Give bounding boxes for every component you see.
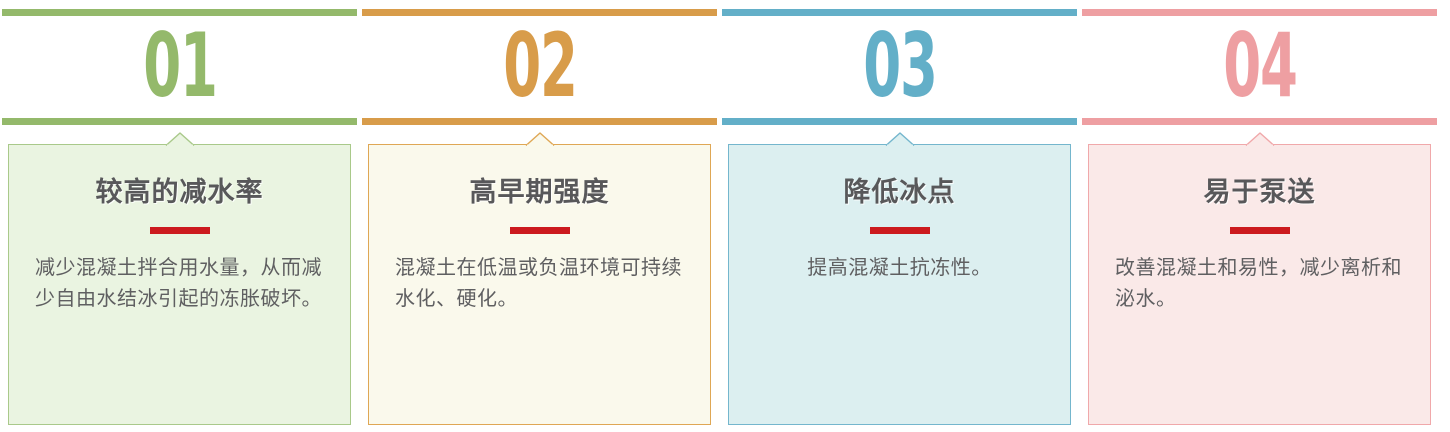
card-notch-icon xyxy=(885,132,915,145)
card-body: 混凝土在低温或负温环境可持续水化、硬化。 xyxy=(395,253,684,315)
feature-card: 降低冰点 提高混凝土抗冻性。 xyxy=(728,144,1071,425)
card-content: 降低冰点 提高混凝土抗冻性。 xyxy=(729,145,1070,424)
card-notch-icon xyxy=(525,132,555,145)
card-content: 较高的减水率 减少混凝土拌合用水量，从而减少自由水结冰引起的冻胀破坏。 xyxy=(9,145,350,424)
card-title: 高早期强度 xyxy=(395,175,684,209)
panel-01: 01 较高的减水率 减少混凝土拌合用水量，从而减少自由水结冰引起的冻胀破坏。 xyxy=(0,0,360,432)
card-body: 提高混凝土抗冻性。 xyxy=(755,253,1044,284)
card-title: 易于泵送 xyxy=(1115,175,1404,209)
panel-number: 02 xyxy=(428,16,651,116)
feature-card: 较高的减水率 减少混凝土拌合用水量，从而减少自由水结冰引起的冻胀破坏。 xyxy=(8,144,351,425)
panel-number: 03 xyxy=(788,16,1011,116)
panel-number: 04 xyxy=(1148,16,1371,116)
accent-rule-mid xyxy=(1082,118,1437,125)
card-body: 减少混凝土拌合用水量，从而减少自由水结冰引起的冻胀破坏。 xyxy=(35,253,324,315)
card-content: 易于泵送 改善混凝土和易性，减少离析和泌水。 xyxy=(1089,145,1430,424)
panel-03: 03 降低冰点 提高混凝土抗冻性。 xyxy=(720,0,1080,432)
title-underline xyxy=(1230,227,1290,234)
panel-02: 02 高早期强度 混凝土在低温或负温环境可持续水化、硬化。 xyxy=(360,0,720,432)
card-notch-icon xyxy=(1245,132,1275,145)
panel-04: 04 易于泵送 改善混凝土和易性，减少离析和泌水。 xyxy=(1080,0,1440,432)
title-underline xyxy=(510,227,570,234)
feature-card: 高早期强度 混凝土在低温或负温环境可持续水化、硬化。 xyxy=(368,144,711,425)
card-body: 改善混凝土和易性，减少离析和泌水。 xyxy=(1115,253,1404,315)
title-underline xyxy=(150,227,210,234)
panel-number: 01 xyxy=(68,16,291,116)
accent-rule-mid xyxy=(2,118,357,125)
card-title: 降低冰点 xyxy=(755,175,1044,209)
title-underline xyxy=(870,227,930,234)
feature-card: 易于泵送 改善混凝土和易性，减少离析和泌水。 xyxy=(1088,144,1431,425)
accent-rule-mid xyxy=(722,118,1077,125)
card-content: 高早期强度 混凝土在低温或负温环境可持续水化、硬化。 xyxy=(369,145,710,424)
card-notch-icon xyxy=(165,132,195,145)
infographic-root: 01 较高的减水率 减少混凝土拌合用水量，从而减少自由水结冰引起的冻胀破坏。 0… xyxy=(0,0,1450,432)
accent-rule-mid xyxy=(362,118,717,125)
card-title: 较高的减水率 xyxy=(35,175,324,209)
